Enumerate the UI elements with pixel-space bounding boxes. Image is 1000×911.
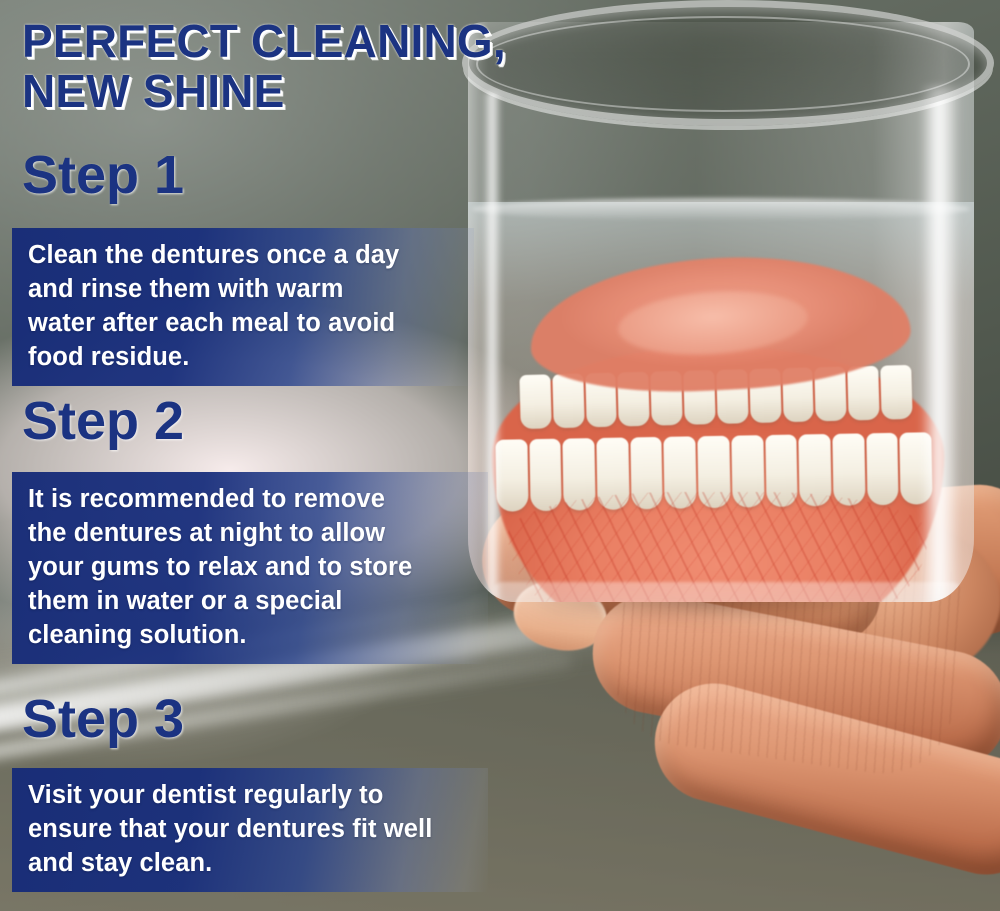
page-title: PERFECT CLEANING, NEW SHINE [22, 16, 662, 116]
step-1-heading: Step 1 [22, 146, 184, 204]
step-2-body: It is recommended to remove the dentures… [12, 472, 488, 664]
poster-root: PERFECT CLEANING, NEW SHINE Step 1 Clean… [0, 0, 1000, 911]
step-3-heading: Step 3 [22, 690, 184, 748]
step-3-body: Visit your dentist regularly to ensure t… [12, 768, 488, 892]
step-1-body: Clean the dentures once a day and rinse … [12, 228, 474, 386]
step-2-heading: Step 2 [22, 392, 184, 450]
text-content-layer: PERFECT CLEANING, NEW SHINE Step 1 Clean… [0, 0, 1000, 911]
